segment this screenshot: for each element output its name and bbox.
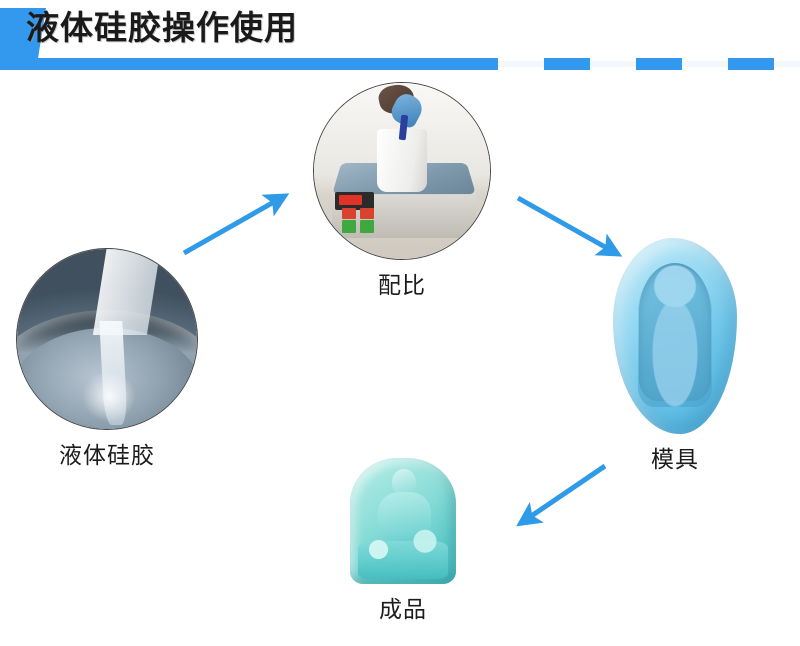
header-rule-dashed	[452, 58, 800, 70]
figurine-head	[392, 469, 415, 494]
flow-node-liquid-silicone: 液体硅胶	[16, 248, 198, 470]
mould-figure-impression	[638, 265, 712, 406]
scale-led-readout	[339, 195, 362, 206]
scale-key-green	[342, 220, 356, 232]
flow-node-ratio: 配比	[313, 82, 491, 300]
node-caption-ratio: 配比	[313, 266, 491, 300]
figurine-detail-right	[411, 529, 439, 564]
weighing-scale-mixing-photo	[313, 82, 491, 260]
scale-key-red	[360, 208, 374, 219]
node-caption-mould: 模具	[600, 440, 750, 474]
blue-silicone-mould-photo	[613, 238, 737, 434]
page-title: 液体硅胶操作使用	[26, 4, 298, 52]
arrow-liquid-to-ratio	[184, 198, 281, 253]
flow-node-product: 成品	[338, 458, 468, 624]
splash-highlight	[82, 371, 136, 421]
node-caption-liquid-silicone: 液体硅胶	[16, 436, 198, 470]
page-header: 液体硅胶操作使用	[0, 0, 800, 78]
turquoise-buddha-figurine-photo	[350, 458, 456, 584]
node-caption-product: 成品	[338, 590, 468, 624]
figurine-detail-left	[366, 536, 391, 566]
flow-node-mould: 模具	[600, 238, 750, 474]
scale-key-red	[342, 208, 356, 219]
liquid-silicone-pouring-photo	[16, 248, 198, 430]
scale-key-green	[360, 220, 374, 232]
header-rule-solid	[0, 58, 452, 70]
arrow-mould-to-product	[524, 466, 605, 521]
